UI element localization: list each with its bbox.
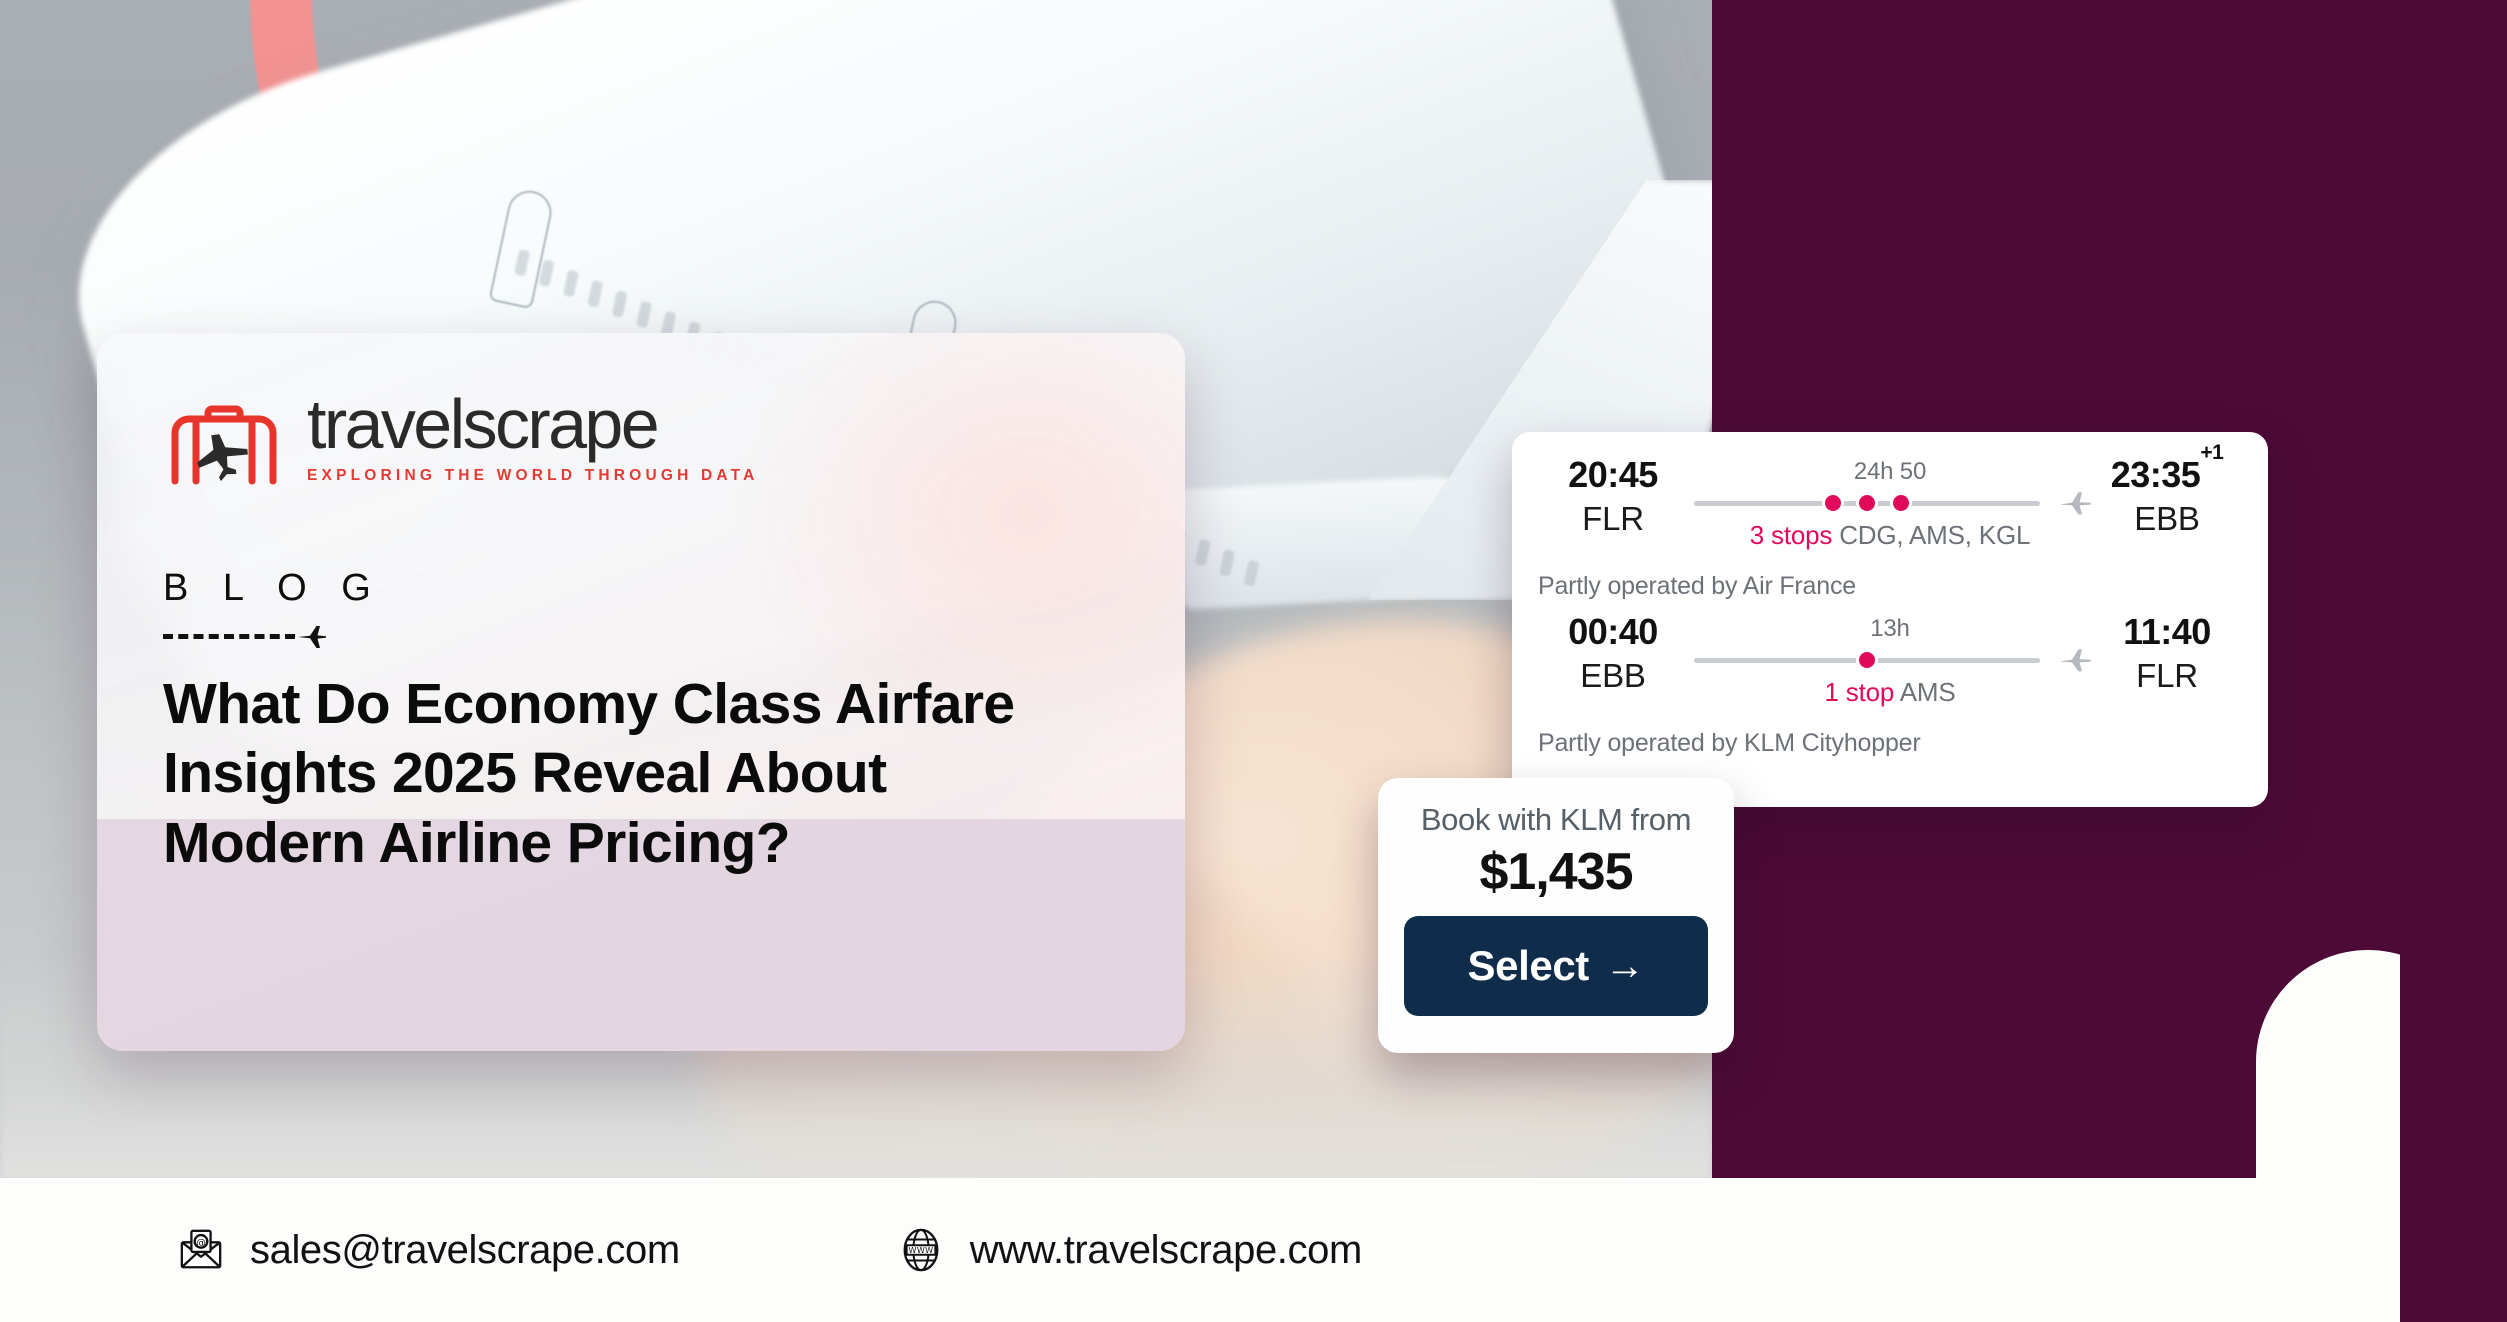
- logo-tagline: EXPLORING THE WORLD THROUGH DATA: [307, 467, 759, 485]
- svg-text:@: @: [196, 1238, 206, 1249]
- leg-duration: 13h: [1688, 615, 2092, 643]
- footer-email-label: sales@travelscrape.com: [250, 1228, 680, 1273]
- depart-airport-code: FLR: [1538, 500, 1688, 538]
- dashed-line: [163, 634, 295, 639]
- flight-leg-outbound[interactable]: 20:45 FLR 24h 50: [1538, 454, 2242, 576]
- leg-operator-note: Partly operated by Air France: [1538, 572, 2242, 601]
- stop-dot: [1859, 495, 1875, 511]
- price-amount: $1,435: [1404, 842, 1708, 902]
- leg-arrive: 23:35+1 EBB: [2092, 454, 2242, 538]
- stops-count: 1 stop: [1825, 677, 1895, 707]
- arrow-right-icon: →: [1605, 946, 1645, 986]
- leg-depart: 00:40 EBB: [1538, 611, 1688, 695]
- stops-airports: AMS: [1900, 677, 1956, 707]
- leg-middle: 24h 50 3 st: [1688, 454, 2092, 551]
- arrive-airport-code: FLR: [2092, 657, 2242, 695]
- leg-depart: 20:45 FLR: [1538, 454, 1688, 538]
- depart-time: 20:45: [1538, 454, 1688, 496]
- blog-card-content: travelscrape EXPLORING THE WORLD THROUGH…: [97, 333, 1185, 878]
- route-line: [1688, 647, 2092, 673]
- footer-website-label: www.travelscrape.com: [970, 1228, 1362, 1273]
- select-button-label: Select: [1468, 942, 1589, 990]
- stop-dot: [1893, 495, 1909, 511]
- depart-time: 00:40: [1538, 611, 1688, 653]
- route-line: [1688, 490, 2092, 516]
- airplane-right-icon: [2058, 647, 2092, 673]
- footer-band-curve-cut: [2400, 950, 2507, 1322]
- arrive-time: 23:35+1: [2092, 454, 2242, 496]
- leg-stops: 3 stops CDG, AMS, KGL: [1688, 520, 2092, 551]
- flight-results-card[interactable]: 20:45 FLR 24h 50: [1512, 432, 2268, 807]
- price-lead-label: Book with KLM from: [1404, 802, 1708, 838]
- logo-text: travelscrape EXPLORING THE WORLD THROUGH…: [307, 391, 759, 485]
- stops-airports: CDG, AMS, KGL: [1839, 520, 2030, 550]
- leg-arrive: 11:40 FLR: [2092, 611, 2242, 695]
- stop-dot: [1825, 495, 1841, 511]
- leg-operator-note: Partly operated by KLM Cityhopper: [1538, 729, 2242, 758]
- leg-middle: 13h 1 stop AMS: [1688, 611, 2092, 708]
- svg-text:WWW: WWW: [908, 1246, 933, 1255]
- logo-wordmark: travelscrape: [307, 391, 759, 458]
- arrive-time: 11:40: [2092, 611, 2242, 653]
- airplane-right-icon: [2058, 490, 2092, 516]
- flight-leg-return[interactable]: 00:40 EBB 13h: [1538, 611, 2242, 733]
- stop-dots: [1825, 495, 1909, 511]
- airplane-right-icon: [297, 624, 327, 650]
- footer-website[interactable]: WWW www.travelscrape.com: [898, 1227, 1362, 1273]
- footer: @ sales@travelscrape.com WWW www.travels…: [0, 1178, 2400, 1322]
- envelope-at-icon: @: [178, 1227, 224, 1273]
- select-button[interactable]: Select →: [1404, 916, 1708, 1016]
- stop-dot: [1859, 652, 1875, 668]
- leg-duration: 24h 50: [1688, 458, 2092, 486]
- page-title: What Do Economy Class Airfare Insights 2…: [163, 670, 1063, 879]
- suitcase-airplane-icon: [163, 403, 285, 485]
- arrive-airport-code: EBB: [2092, 500, 2242, 538]
- depart-airport-code: EBB: [1538, 657, 1688, 695]
- leg-stops: 1 stop AMS: [1688, 677, 2092, 708]
- price-card[interactable]: Book with KLM from $1,435 Select →: [1378, 778, 1734, 1053]
- arrive-time-superscript: +1: [2200, 441, 2223, 464]
- dashed-line-airplane-icon: [163, 624, 1119, 650]
- logo[interactable]: travelscrape EXPLORING THE WORLD THROUGH…: [163, 391, 1119, 485]
- stop-dots: [1859, 652, 1875, 668]
- stops-count: 3 stops: [1750, 520, 1832, 550]
- blog-eyebrow: B L O G: [163, 567, 1119, 610]
- footer-email[interactable]: @ sales@travelscrape.com: [178, 1227, 680, 1273]
- globe-www-icon: WWW: [898, 1227, 944, 1273]
- blog-banner: @ sales@travelscrape.com WWW www.travels…: [0, 0, 2507, 1322]
- blog-card: travelscrape EXPLORING THE WORLD THROUGH…: [97, 333, 1185, 1051]
